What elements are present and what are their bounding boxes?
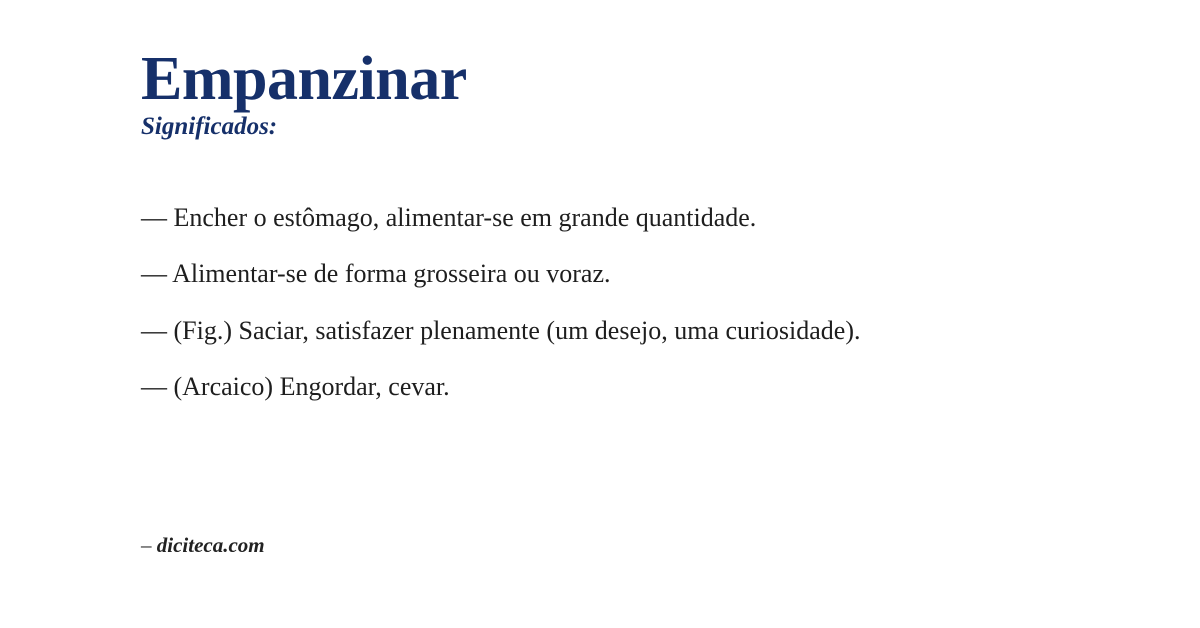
em-dash-marker: — [141, 203, 174, 232]
list-item: — (Arcaico) Engordar, cevar. [141, 370, 1041, 404]
list-item: — (Fig.) Saciar, satisfazer plenamente (… [141, 314, 1041, 348]
card-footer: – diciteca.com [141, 533, 265, 558]
em-dash-marker: — [141, 372, 174, 401]
definition-text: (Arcaico) Engordar, cevar. [174, 372, 450, 401]
source-name: diciteca.com [157, 533, 265, 557]
card-header: Empanzinar Significados: [141, 48, 1060, 141]
definition-card: Empanzinar Significados: — Encher o estô… [0, 0, 1200, 628]
list-item: — Encher o estômago, alimentar-se em gra… [141, 201, 1041, 235]
em-dash-marker: — [141, 259, 172, 288]
source-attribution: – diciteca.com [141, 533, 265, 558]
definition-text: Encher o estômago, alimentar-se em grand… [174, 203, 757, 232]
en-dash-marker: – [141, 533, 157, 557]
definition-text: Alimentar-se de forma grosseira ou voraz… [172, 259, 610, 288]
subtitle-significados: Significados: [141, 113, 1060, 141]
definition-text: (Fig.) Saciar, satisfazer plenamente (um… [174, 316, 861, 345]
page-title: Empanzinar [141, 48, 1060, 111]
list-item: — Alimentar-se de forma grosseira ou vor… [141, 257, 1041, 291]
definitions-list: — Encher o estômago, alimentar-se em gra… [141, 201, 1041, 404]
em-dash-marker: — [141, 316, 174, 345]
